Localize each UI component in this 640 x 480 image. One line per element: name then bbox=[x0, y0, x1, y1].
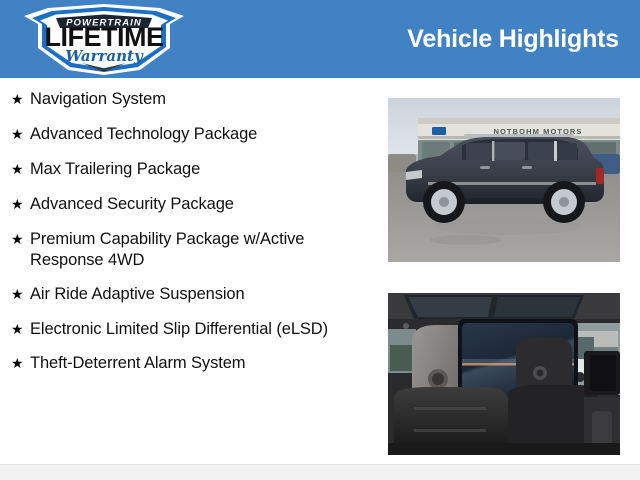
star-icon: ★ bbox=[8, 194, 30, 215]
powertrain-lifetime-warranty-logo: POWERTRAIN LIFETIME Warranty bbox=[20, 2, 188, 76]
list-item: ★ Max Trailering Package bbox=[8, 159, 376, 180]
feature-label: Electronic Limited Slip Differential (eL… bbox=[30, 319, 376, 340]
feature-label: Air Ride Adaptive Suspension bbox=[30, 284, 376, 305]
feature-label: Navigation System bbox=[30, 89, 376, 110]
page-title: Vehicle Highlights bbox=[407, 24, 619, 54]
star-icon: ★ bbox=[8, 284, 30, 305]
slide-body: ★ Navigation System ★ Advanced Technolog… bbox=[0, 78, 640, 464]
star-icon: ★ bbox=[8, 229, 30, 250]
list-item: ★ Air Ride Adaptive Suspension bbox=[8, 284, 376, 305]
feature-label: Advanced Security Package bbox=[30, 194, 376, 215]
header-bar: POWERTRAIN LIFETIME Warranty Vehicle Hig… bbox=[0, 0, 640, 78]
star-icon: ★ bbox=[8, 89, 30, 110]
list-item: ★ Electronic Limited Slip Differential (… bbox=[8, 319, 376, 340]
star-icon: ★ bbox=[8, 319, 30, 340]
star-icon: ★ bbox=[8, 124, 30, 145]
feature-label: Max Trailering Package bbox=[30, 159, 376, 180]
svg-text:Warranty: Warranty bbox=[65, 47, 144, 65]
list-item: ★ Premium Capability Package w/Active Re… bbox=[8, 229, 376, 271]
list-item: ★ Advanced Security Package bbox=[8, 194, 376, 215]
vehicle-exterior-photo[interactable]: NOTBOHM MOTORS bbox=[388, 98, 620, 262]
footer-bar bbox=[0, 464, 640, 480]
feature-label: Premium Capability Package w/Active Resp… bbox=[30, 229, 376, 271]
feature-label: Advanced Technology Package bbox=[30, 124, 376, 145]
vehicle-interior-photo[interactable] bbox=[388, 293, 620, 455]
list-item: ★ Theft-Deterrent Alarm System bbox=[8, 353, 376, 374]
star-icon: ★ bbox=[8, 159, 30, 180]
vehicle-feature-list: ★ Navigation System ★ Advanced Technolog… bbox=[8, 89, 376, 388]
feature-label: Theft-Deterrent Alarm System bbox=[30, 353, 376, 374]
list-item: ★ Navigation System bbox=[8, 89, 376, 110]
vehicle-highlights-slide: POWERTRAIN LIFETIME Warranty Vehicle Hig… bbox=[0, 0, 640, 480]
star-icon: ★ bbox=[8, 353, 30, 374]
list-item: ★ Advanced Technology Package bbox=[8, 124, 376, 145]
